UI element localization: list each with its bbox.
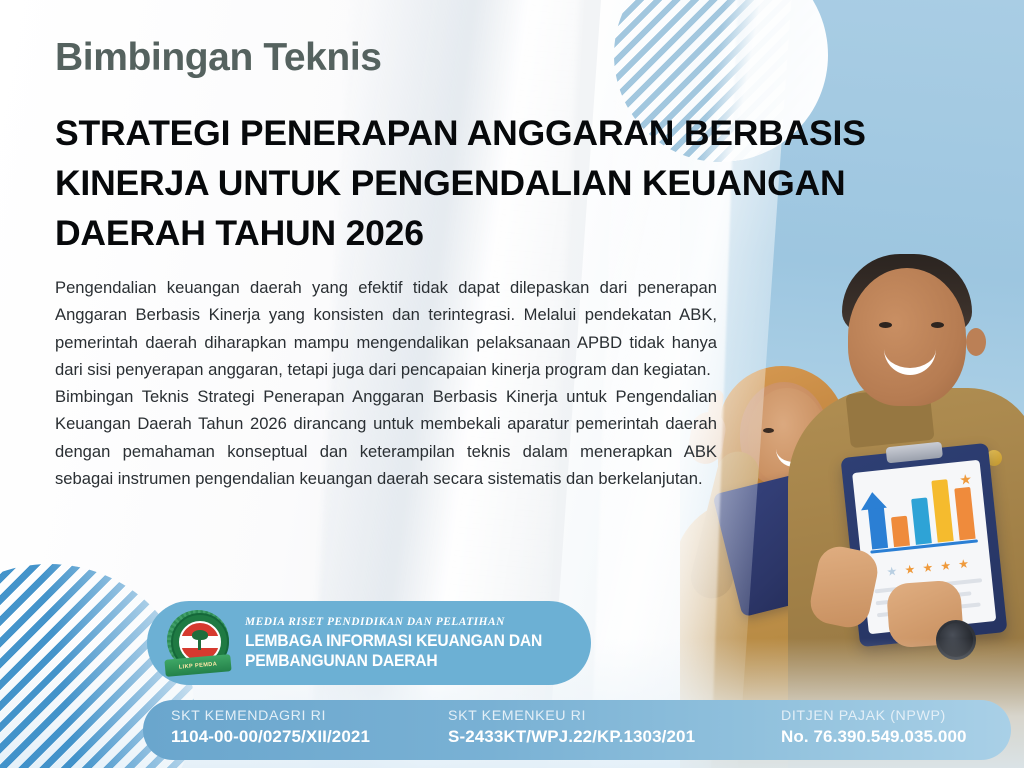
woman-eye-left: [763, 428, 774, 433]
chart-accent-star-icon: ★: [959, 473, 973, 486]
rating-star-icon-3: ★: [922, 561, 934, 574]
chart-bar-4: [954, 487, 975, 540]
organization-name-line-1: LEMBAGA INFORMASI KEUANGAN DAN: [245, 631, 542, 651]
chart-bar-2: [911, 497, 932, 544]
organization-name-line-2: PEMBANGUNAN DAERAH: [245, 651, 542, 671]
rating-star-icon-1: ★: [886, 565, 898, 578]
rating-star-icon-5: ★: [958, 557, 970, 570]
footer-credentials-bar: SKT KEMENDAGRI RI 1104-00-00/0275/XII/20…: [143, 700, 1011, 760]
rating-star-icon-2: ★: [904, 563, 916, 576]
footer-label-npwp: DITJEN PAJAK (NPWP): [781, 708, 967, 724]
page-title: STRATEGI PENERAPAN ANGGARAN BERBASIS KIN…: [55, 108, 985, 258]
emblem-ribbon-label: LIKP PEMDA: [179, 661, 218, 670]
organization-badge: LIKP PEMDA MEDIA RISET PENDIDIKAN DAN PE…: [147, 601, 591, 685]
kicker-title: Bimbingan Teknis: [55, 36, 382, 80]
description-paragraph-1: Pengendalian keuangan daerah yang efekti…: [55, 274, 717, 383]
emblem-tree-trunk: [198, 638, 201, 650]
footer-value-kemendagri: 1104-00-00/0275/XII/2021: [171, 727, 370, 747]
growth-arrow-icon: [868, 506, 888, 549]
description-paragraph-2: Bimbingan Teknis Strategi Penerapan Angg…: [55, 383, 717, 492]
organization-tagline: MEDIA RISET PENDIDIKAN DAN PELATIHAN: [245, 616, 561, 628]
man-ear: [966, 328, 986, 356]
footer-label-kemenkeu: SKT KEMENKEU RI: [448, 708, 695, 724]
footer-credential-kemendagri: SKT KEMENDAGRI RI 1104-00-00/0275/XII/20…: [171, 708, 370, 747]
man-head: [848, 268, 966, 406]
footer-label-kemendagri: SKT KEMENDAGRI RI: [171, 708, 370, 724]
description-body: Pengendalian keuangan daerah yang efekti…: [55, 274, 717, 492]
poster-canvas: ★ ★ ★ ★ ★ ★ Bimbingan Teknis STRATEGI PE…: [0, 0, 1024, 768]
organization-text: MEDIA RISET PENDIDIKAN DAN PELATIHAN LEM…: [245, 616, 561, 671]
man-eye-left: [879, 322, 892, 328]
footer-value-kemenkeu: S-2433KT/WPJ.22/KP.1303/201: [448, 727, 695, 747]
chart-bar-3: [931, 479, 953, 542]
footer-credential-npwp: DITJEN PAJAK (NPWP) No. 76.390.549.035.0…: [781, 708, 967, 747]
man-eye-right: [931, 322, 944, 328]
footer-value-npwp: No. 76.390.549.035.000: [781, 727, 967, 747]
growth-arrow-head-icon: [859, 491, 887, 511]
rating-star-icon-4: ★: [940, 559, 952, 572]
organization-emblem-icon: LIKP PEMDA: [165, 610, 231, 676]
clipboard-bar-chart: ★: [862, 475, 981, 560]
chart-bar-1: [891, 516, 910, 548]
footer-credential-kemenkeu: SKT KEMENKEU RI S-2433KT/WPJ.22/KP.1303/…: [448, 708, 695, 747]
